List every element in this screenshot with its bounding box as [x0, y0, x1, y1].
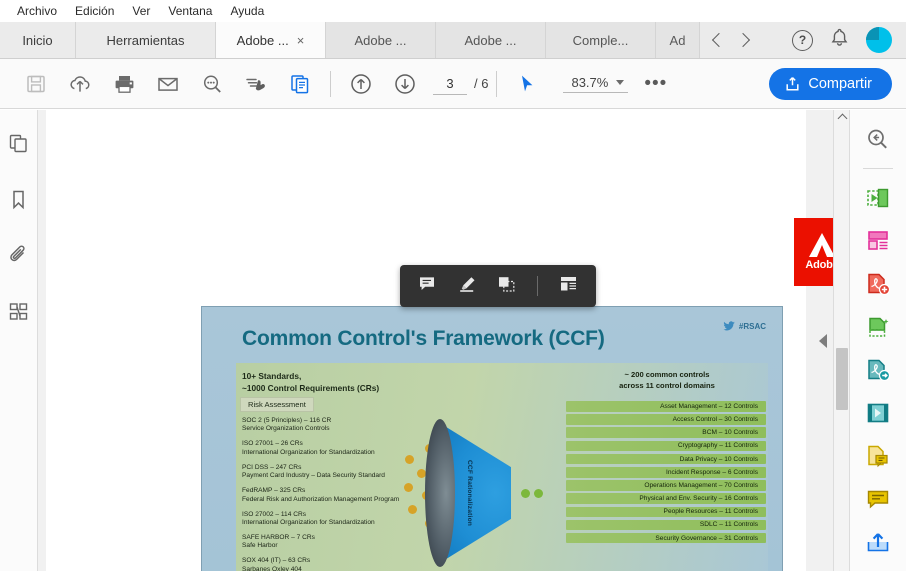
domain-bar: People Resources – 11 Controls	[566, 507, 766, 518]
floating-toolbar-divider	[537, 276, 538, 296]
help-icon[interactable]: ?	[792, 30, 813, 51]
sidebar-attachments-icon[interactable]	[1, 238, 37, 272]
chevron-right-icon[interactable]	[736, 33, 750, 47]
standard-item: ISO 27001 – 26 CRs International Organiz…	[242, 440, 399, 457]
standard-subtitle: International Organization for Standardi…	[242, 519, 399, 527]
standard-subtitle: International Organization for Standardi…	[242, 449, 399, 457]
chevron-down-icon[interactable]	[616, 80, 624, 85]
sidebar-bookmarks-icon[interactable]	[1, 182, 37, 216]
print-icon[interactable]	[102, 66, 146, 102]
page-up-button[interactable]	[339, 66, 383, 102]
tool-comment-doc-icon[interactable]	[860, 439, 896, 473]
tool-rich-media-icon[interactable]	[860, 396, 896, 430]
read-aloud-icon[interactable]	[234, 66, 278, 102]
search-icon[interactable]	[190, 66, 234, 102]
rationalization-funnel: CCF Rationalization	[403, 411, 553, 571]
standard-title: ISO 27002 – 114 CRs	[242, 511, 399, 519]
tab-document-4-label: Comple...	[573, 33, 629, 48]
risk-assessment-label: Risk Assessment	[240, 397, 314, 412]
email-icon[interactable]	[146, 66, 190, 102]
menu-bar: Archivo Edición Ver Ventana Ayuda	[0, 0, 906, 22]
left-navigation-rail	[0, 110, 38, 571]
rsac-hashtag: #RSAC	[723, 321, 766, 331]
floating-annotation-toolbar	[400, 265, 596, 307]
tab-bar-right: ?	[792, 22, 906, 58]
standard-item: SOX 404 (IT) – 63 CRs Sarbanes Oxley 404	[242, 557, 399, 571]
save-icon[interactable]	[14, 66, 58, 102]
standards-list: SOC 2 (5 Principles) – 116 CR Service Or…	[242, 417, 399, 571]
control-domains-list: Asset Management – 12 Controls Access Co…	[566, 401, 766, 543]
tab-inicio[interactable]: Inicio	[0, 22, 76, 58]
extract-layout-icon[interactable]	[559, 275, 578, 298]
more-options-button[interactable]: •••	[644, 78, 667, 89]
page-number-input[interactable]	[433, 73, 467, 95]
rsac-label: #RSAC	[739, 322, 766, 331]
tool-search-icon[interactable]	[860, 122, 896, 156]
menu-edicion[interactable]: Edición	[66, 2, 123, 20]
output-dot	[521, 489, 530, 498]
tab-bar: Inicio Herramientas Adobe ... × Adobe ..…	[0, 22, 906, 59]
tool-optimize-pdf-icon[interactable]	[860, 310, 896, 344]
standard-title: PCI DSS – 247 CRs	[242, 464, 399, 472]
tab-herramientas-label: Herramientas	[106, 33, 184, 48]
domain-bar: Asset Management – 12 Controls	[566, 401, 766, 412]
main-toolbar: / 6 83.7% ••• Compartir	[0, 59, 906, 109]
tool-export-pdf-icon[interactable]	[860, 353, 896, 387]
domain-bar: Access Control – 30 Controls	[566, 414, 766, 425]
slide-content: Common Control's Framework (CCF) #RSAC 1…	[208, 313, 776, 571]
tab-document-5-label: Ad	[670, 33, 686, 48]
summary-line2: across 11 control domains	[572, 380, 762, 391]
workspace: Adobe Common Control's Framework (CCF) #…	[0, 110, 906, 571]
standards-heading: 10+ Standards, ~1000 Control Requirement…	[242, 370, 379, 394]
tab-document-2[interactable]: Adobe ...	[326, 22, 436, 58]
menu-archivo[interactable]: Archivo	[8, 2, 66, 20]
tab-herramientas[interactable]: Herramientas	[76, 22, 216, 58]
highlight-icon[interactable]	[457, 275, 477, 298]
sidebar-layers-icon[interactable]	[1, 294, 37, 328]
tool-comment-icon[interactable]	[860, 482, 896, 516]
select-tool-icon[interactable]	[505, 66, 549, 102]
pdf-page: Adobe Common Control's Framework (CCF) #…	[46, 110, 806, 571]
tool-share-export-icon[interactable]	[860, 525, 896, 559]
right-tools-rail	[850, 110, 906, 571]
bell-icon[interactable]	[831, 28, 848, 52]
share-button[interactable]: Compartir	[769, 68, 892, 100]
tool-organize-pages-icon[interactable]	[860, 224, 896, 258]
standards-heading-line2: ~1000 Control Requirements (CRs)	[242, 382, 379, 394]
document-viewer[interactable]: Adobe Common Control's Framework (CCF) #…	[38, 110, 850, 571]
standard-title: SOC 2 (5 Principles) – 116 CR	[242, 417, 399, 425]
summary-text: ~ 200 common controls across 11 control …	[572, 369, 762, 391]
tab-document-3-label: Adobe ...	[464, 33, 516, 48]
toolbar-divider-2	[496, 71, 497, 97]
slide-figure: Common Control's Framework (CCF) #RSAC 1…	[201, 306, 783, 571]
upload-cloud-icon[interactable]	[58, 66, 102, 102]
standard-item: ISO 27002 – 114 CRs International Organi…	[242, 511, 399, 528]
adobe-a-icon	[809, 233, 835, 257]
comment-icon[interactable]	[418, 275, 436, 298]
domain-bar: Physical and Env. Security – 16 Controls	[566, 493, 766, 504]
chevron-left-icon[interactable]	[712, 33, 726, 47]
tab-document-2-label: Adobe ...	[354, 33, 406, 48]
input-dot	[405, 455, 414, 464]
tab-document-3[interactable]: Adobe ...	[436, 22, 546, 58]
page-thumbnail-icon[interactable]	[278, 66, 322, 102]
standards-heading-line1: 10+ Standards,	[242, 370, 379, 382]
domain-bar: Data Privacy – 10 Controls	[566, 454, 766, 465]
standard-item: FedRAMP – 325 CRs Federal Risk and Autho…	[242, 487, 399, 504]
sidebar-page-thumbnails-icon[interactable]	[1, 126, 37, 160]
collapse-right-panel-handle[interactable]	[819, 334, 827, 348]
standard-subtitle: Service Organization Controls	[242, 425, 399, 433]
share-button-label: Compartir	[808, 76, 872, 92]
acrobat-window: Archivo Edición Ver Ventana Ayuda Inicio…	[0, 0, 906, 571]
tool-crop-pages-icon[interactable]	[860, 181, 896, 215]
input-dot	[408, 505, 417, 514]
scroll-thumb[interactable]	[836, 348, 848, 410]
tool-create-pdf-icon[interactable]	[860, 267, 896, 301]
domain-bar: BCM – 10 Controls	[566, 427, 766, 438]
standard-title: SOX 404 (IT) – 63 CRs	[242, 557, 399, 565]
standard-title: SAFE HARBOR – 7 CRs	[242, 534, 399, 542]
vertical-scrollbar[interactable]	[833, 110, 849, 571]
domain-bar: Security Governance – 31 Controls	[566, 533, 766, 544]
tab-scroll-controls	[700, 22, 762, 58]
tab-document-5[interactable]: Ad	[656, 22, 700, 58]
standard-title: ISO 27001 – 26 CRs	[242, 440, 399, 448]
zoom-selector[interactable]: 83.7%	[563, 75, 628, 93]
standard-title: FedRAMP – 325 CRs	[242, 487, 399, 495]
standard-subtitle: Payment Card Industry – Data Security St…	[242, 472, 399, 480]
standard-subtitle: Federal Risk and Authorization Managemen…	[242, 496, 399, 504]
tab-document-1[interactable]: Adobe ... ×	[216, 22, 326, 58]
domain-bar: Incident Response – 6 Controls	[566, 467, 766, 478]
slide-title: Common Control's Framework (CCF)	[242, 327, 605, 351]
standard-item: SOC 2 (5 Principles) – 116 CR Service Or…	[242, 417, 399, 434]
summary-line1: ~ 200 common controls	[572, 369, 762, 380]
standard-subtitle: Sarbanes Oxley 404	[242, 566, 399, 571]
avatar[interactable]	[866, 27, 892, 53]
zoom-value: 83.7%	[571, 75, 608, 90]
menu-ayuda[interactable]: Ayuda	[221, 2, 273, 20]
tab-inicio-label: Inicio	[22, 33, 52, 48]
scroll-up-button[interactable]	[834, 110, 850, 126]
snapshot-icon[interactable]	[497, 275, 516, 298]
twitter-icon	[723, 321, 735, 331]
domain-bar: SDLC – 11 Controls	[566, 520, 766, 531]
domain-bar: Operations Management – 70 Controls	[566, 480, 766, 491]
standard-item: SAFE HARBOR – 7 CRs Safe Harbor	[242, 534, 399, 551]
funnel-label: CCF Rationalization	[466, 447, 473, 539]
tab-document-4[interactable]: Comple...	[546, 22, 656, 58]
right-rail-divider	[863, 168, 893, 169]
domain-bar: Cryptography – 11 Controls	[566, 441, 766, 452]
standard-subtitle: Safe Harbor	[242, 542, 399, 550]
funnel-mouth	[425, 419, 455, 567]
output-dot	[534, 489, 543, 498]
tab-document-1-label: Adobe ...	[237, 33, 289, 48]
standard-item: PCI DSS – 247 CRs Payment Card Industry …	[242, 464, 399, 481]
page-total-label: / 6	[474, 76, 488, 91]
menu-ver[interactable]: Ver	[123, 2, 159, 20]
page-navigation: / 6	[433, 73, 488, 95]
toolbar-divider	[330, 71, 331, 97]
input-dot	[404, 483, 413, 492]
menu-ventana[interactable]: Ventana	[159, 2, 221, 20]
page-down-button[interactable]	[383, 66, 427, 102]
close-icon[interactable]: ×	[297, 34, 305, 47]
